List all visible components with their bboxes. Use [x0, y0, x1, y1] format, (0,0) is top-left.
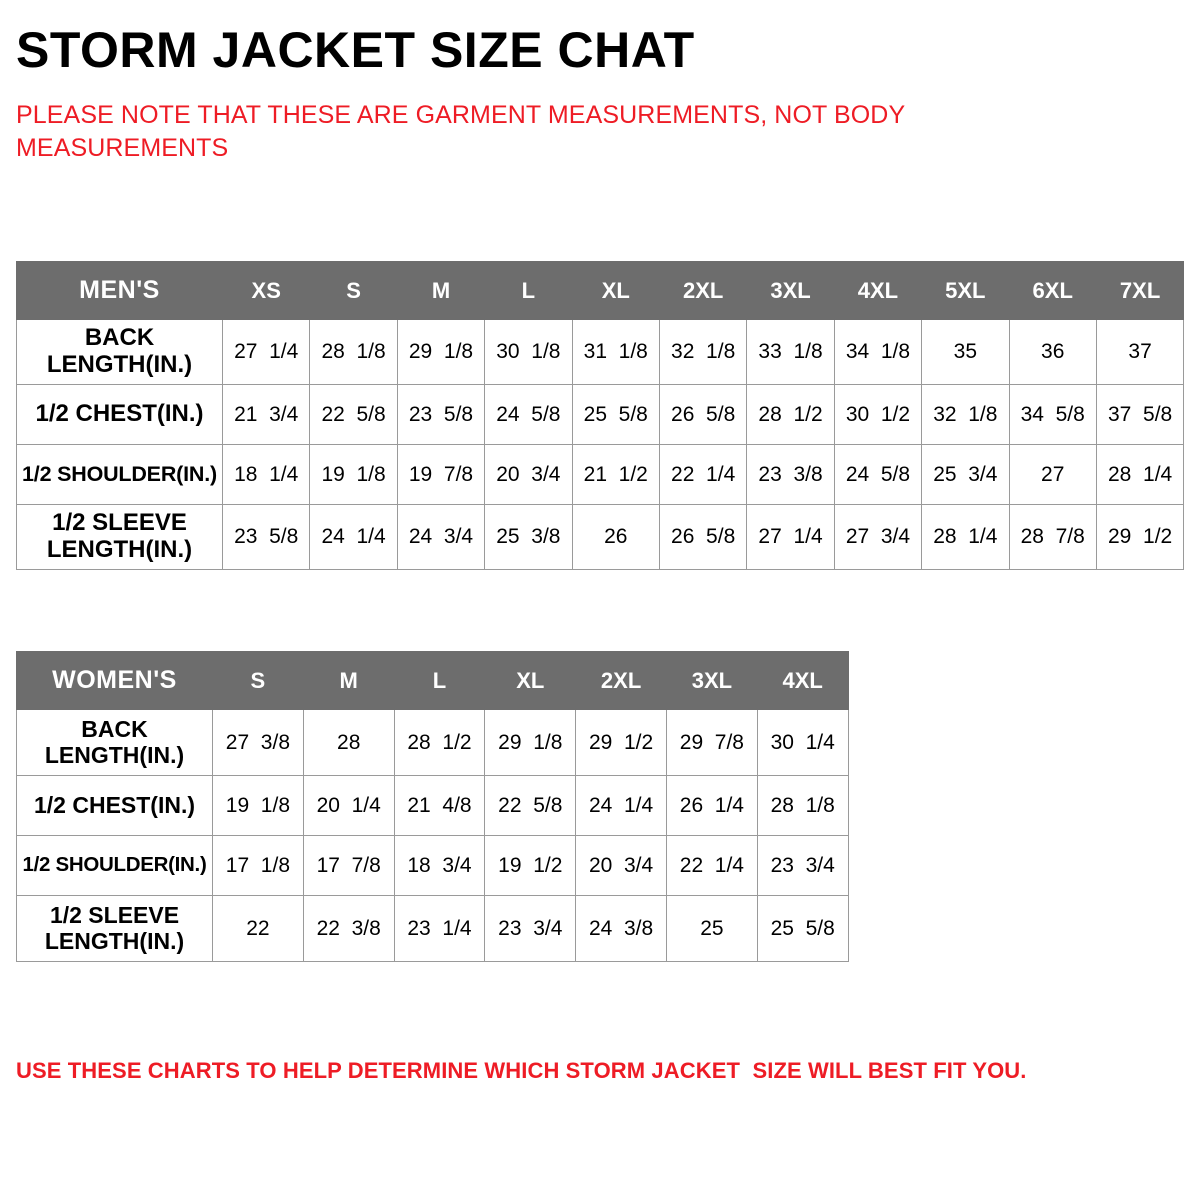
- table-cell: 26 1/4: [666, 776, 757, 836]
- womens-row-label-back-length: BACKLENGTH(IN.): [17, 710, 213, 776]
- womens-col-l: L: [394, 652, 485, 710]
- table-cell: 21 4/8: [394, 776, 485, 836]
- table-row: BACKLENGTH(IN.) 27 3/8 28 28 1/2 29 1/8 …: [17, 710, 849, 776]
- table-cell: 27 3/4: [834, 505, 921, 570]
- size-chart-page: STORM JACKET SIZE CHAT PLEASE NOTE THAT …: [0, 0, 1200, 1200]
- table-cell: 24 1/4: [576, 776, 667, 836]
- table-cell: 25: [666, 896, 757, 962]
- womens-row-label-half-chest: 1/2 CHEST(IN.): [17, 776, 213, 836]
- table-cell: 35: [922, 320, 1009, 385]
- womens-header-row: WOMEN'S S M L XL 2XL 3XL 4XL: [17, 652, 849, 710]
- mens-col-s: S: [310, 262, 397, 320]
- table-cell: 29 1/2: [576, 710, 667, 776]
- table-cell: 25 5/8: [757, 896, 848, 962]
- table-cell: 24 5/8: [834, 445, 921, 505]
- table-cell: 24 5/8: [485, 385, 572, 445]
- table-cell: 34 1/8: [834, 320, 921, 385]
- womens-col-m: M: [303, 652, 394, 710]
- table-cell: 19 1/8: [213, 776, 304, 836]
- table-cell: 22 1/4: [659, 445, 746, 505]
- table-cell: 27 1/4: [747, 505, 834, 570]
- table-cell: 19 1/2: [485, 836, 576, 896]
- womens-table-head: WOMEN'S S M L XL 2XL 3XL 4XL: [17, 652, 849, 710]
- mens-col-3xl: 3XL: [747, 262, 834, 320]
- table-cell: 22: [213, 896, 304, 962]
- table-cell: 22 3/8: [303, 896, 394, 962]
- mens-table-body: BACKLENGTH(IN.) 27 1/4 28 1/8 29 1/8 30 …: [17, 320, 1184, 570]
- table-cell: 28 1/8: [757, 776, 848, 836]
- mens-col-2xl: 2XL: [659, 262, 746, 320]
- table-cell: 23 5/8: [223, 505, 310, 570]
- mens-size-table: MEN'S XS S M L XL 2XL 3XL 4XL 5XL 6XL 7X…: [16, 261, 1184, 570]
- table-cell: 28 1/4: [1096, 445, 1183, 505]
- table-cell: 30 1/4: [757, 710, 848, 776]
- mens-col-7xl: 7XL: [1096, 262, 1183, 320]
- womens-size-table: WOMEN'S S M L XL 2XL 3XL 4XL BACKLENGTH(…: [16, 651, 849, 962]
- table-cell: 36: [1009, 320, 1096, 385]
- womens-col-4xl: 4XL: [757, 652, 848, 710]
- table-cell: 32 1/8: [922, 385, 1009, 445]
- womens-col-3xl: 3XL: [666, 652, 757, 710]
- table-cell: 21 3/4: [223, 385, 310, 445]
- table-cell: 26 5/8: [659, 505, 746, 570]
- table-cell: 20 3/4: [485, 445, 572, 505]
- table-cell: 26: [572, 505, 659, 570]
- mens-table-head: MEN'S XS S M L XL 2XL 3XL 4XL 5XL 6XL 7X…: [17, 262, 1184, 320]
- table-cell: 23 3/8: [747, 445, 834, 505]
- table-cell: 22 5/8: [310, 385, 397, 445]
- table-row: 1/2 SLEEVELENGTH(IN.) 22 22 3/8 23 1/4 2…: [17, 896, 849, 962]
- womens-table-body: BACKLENGTH(IN.) 27 3/8 28 28 1/2 29 1/8 …: [17, 710, 849, 962]
- table-cell: 20 1/4: [303, 776, 394, 836]
- table-cell: 29 7/8: [666, 710, 757, 776]
- table-cell: 23 3/4: [757, 836, 848, 896]
- table-cell: 27 1/4: [223, 320, 310, 385]
- womens-col-xl: XL: [485, 652, 576, 710]
- table-row: 1/2 SHOULDER(IN.) 18 1/4 19 1/8 19 7/8 2…: [17, 445, 1184, 505]
- table-cell: 26 5/8: [659, 385, 746, 445]
- table-cell: 22 1/4: [666, 836, 757, 896]
- table-row: 1/2 CHEST(IN.) 19 1/8 20 1/4 21 4/8 22 5…: [17, 776, 849, 836]
- womens-col-2xl: 2XL: [576, 652, 667, 710]
- mens-col-l: L: [485, 262, 572, 320]
- table-cell: 21 1/2: [572, 445, 659, 505]
- table-cell: 23 5/8: [397, 385, 484, 445]
- mens-row-label-half-shoulder: 1/2 SHOULDER(IN.): [17, 445, 223, 505]
- womens-row-label-half-sleeve-length: 1/2 SLEEVELENGTH(IN.): [17, 896, 213, 962]
- table-cell: 29 1/2: [1096, 505, 1183, 570]
- table-cell: 17 1/8: [213, 836, 304, 896]
- table-cell: 37 5/8: [1096, 385, 1183, 445]
- mens-col-m: M: [397, 262, 484, 320]
- table-cell: 30 1/8: [485, 320, 572, 385]
- table-cell: 28 1/8: [310, 320, 397, 385]
- mens-col-4xl: 4XL: [834, 262, 921, 320]
- mens-row-label-half-sleeve-length: 1/2 SLEEVELENGTH(IN.): [17, 505, 223, 570]
- table-cell: 28: [303, 710, 394, 776]
- table-cell: 29 1/8: [485, 710, 576, 776]
- table-cell: 31 1/8: [572, 320, 659, 385]
- table-cell: 28 7/8: [1009, 505, 1096, 570]
- table-cell: 28 1/2: [747, 385, 834, 445]
- table-row: 1/2 SHOULDER(IN.) 17 1/8 17 7/8 18 3/4 1…: [17, 836, 849, 896]
- table-cell: 22 5/8: [485, 776, 576, 836]
- table-cell: 25 3/4: [922, 445, 1009, 505]
- table-cell: 18 3/4: [394, 836, 485, 896]
- mens-header-row: MEN'S XS S M L XL 2XL 3XL 4XL 5XL 6XL 7X…: [17, 262, 1184, 320]
- mens-col-6xl: 6XL: [1009, 262, 1096, 320]
- womens-col-s: S: [213, 652, 304, 710]
- note-size-guidance: USE THESE CHARTS TO HELP DETERMINE WHICH…: [16, 1058, 1027, 1084]
- table-cell: 25 3/8: [485, 505, 572, 570]
- table-cell: 20 3/4: [576, 836, 667, 896]
- womens-row-label-half-shoulder: 1/2 SHOULDER(IN.): [17, 836, 213, 896]
- table-cell: 28 1/4: [922, 505, 1009, 570]
- table-cell: 19 1/8: [310, 445, 397, 505]
- table-cell: 24 1/4: [310, 505, 397, 570]
- table-cell: 25 5/8: [572, 385, 659, 445]
- table-cell: 24 3/8: [576, 896, 667, 962]
- table-row: 1/2 SLEEVELENGTH(IN.) 23 5/8 24 1/4 24 3…: [17, 505, 1184, 570]
- table-cell: 24 3/4: [397, 505, 484, 570]
- table-cell: 33 1/8: [747, 320, 834, 385]
- womens-corner-label: WOMEN'S: [17, 652, 213, 710]
- table-cell: 23 1/4: [394, 896, 485, 962]
- table-cell: 28 1/2: [394, 710, 485, 776]
- mens-row-label-back-length: BACKLENGTH(IN.): [17, 320, 223, 385]
- note-garment-measurements: PLEASE NOTE THAT THESE ARE GARMENT MEASU…: [16, 99, 976, 165]
- table-cell: 32 1/8: [659, 320, 746, 385]
- page-title: STORM JACKET SIZE CHAT: [16, 0, 1184, 77]
- table-row: BACKLENGTH(IN.) 27 1/4 28 1/8 29 1/8 30 …: [17, 320, 1184, 385]
- mens-corner-label: MEN'S: [17, 262, 223, 320]
- table-cell: 29 1/8: [397, 320, 484, 385]
- mens-col-xs: XS: [223, 262, 310, 320]
- table-cell: 19 7/8: [397, 445, 484, 505]
- table-cell: 18 1/4: [223, 445, 310, 505]
- table-cell: 34 5/8: [1009, 385, 1096, 445]
- table-cell: 17 7/8: [303, 836, 394, 896]
- table-cell: 37: [1096, 320, 1183, 385]
- mens-col-xl: XL: [572, 262, 659, 320]
- mens-col-5xl: 5XL: [922, 262, 1009, 320]
- table-cell: 27 3/8: [213, 710, 304, 776]
- table-cell: 27: [1009, 445, 1096, 505]
- table-cell: 30 1/2: [834, 385, 921, 445]
- mens-row-label-half-chest: 1/2 CHEST(IN.): [17, 385, 223, 445]
- table-cell: 23 3/4: [485, 896, 576, 962]
- table-row: 1/2 CHEST(IN.) 21 3/4 22 5/8 23 5/8 24 5…: [17, 385, 1184, 445]
